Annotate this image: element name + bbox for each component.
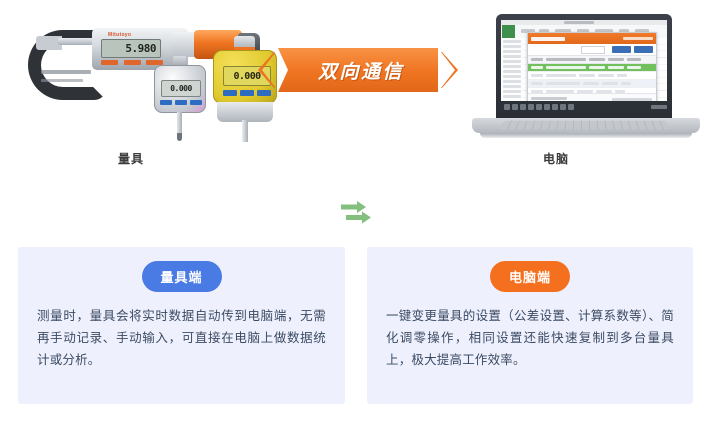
pc-caption: 电脑 [543, 150, 569, 167]
table-row [528, 80, 656, 88]
badge-gauge-side: 量具端 [141, 261, 221, 292]
bidirectional-arrows-icon [336, 196, 376, 226]
table-row [528, 64, 656, 72]
micrometer-brand-label: Mitutoyo [108, 32, 131, 38]
chevron-left-icon [258, 52, 275, 88]
app-toolbar [528, 44, 656, 56]
laptop-lid [496, 14, 672, 120]
laptop-illustration [472, 14, 700, 144]
app-table-header [528, 56, 656, 64]
banner-label: 双向通信 [312, 57, 404, 84]
laptop-keyboard [500, 121, 670, 130]
card-gauge-side: 量具端 测量时，量具会将实时数据自动传到电脑端，无需再手动记录、手动输入，可直接… [18, 247, 345, 404]
gauge-caption: 量具 [118, 150, 144, 167]
taskbar [501, 101, 667, 112]
hero-section: Mitutoyo 5.980 0.000 0 [0, 0, 712, 180]
badge-pc-side: 电脑端 [490, 261, 570, 292]
banner-body: 双向通信 [278, 48, 438, 92]
spreadsheet-file-menu [502, 25, 515, 38]
dial-indicator-small: 0.000 [152, 56, 208, 142]
card-pc-side-body: 一键变更量具的设置（公差设置、计算系数等）、简化调零操作，相同设置还能快速复制到… [386, 305, 674, 371]
app-titlebar [528, 33, 656, 44]
table-row [528, 72, 656, 80]
chevron-right-icon [441, 52, 458, 88]
spreadsheet-row-headers [501, 38, 524, 101]
measuring-instruments: Mitutoyo 5.980 0.000 0 [22, 8, 262, 143]
laptop-base-front [480, 133, 692, 138]
measurement-app-window [527, 32, 657, 112]
dial-large-reading: 0.000 [233, 71, 260, 82]
card-gauge-side-body: 测量时，量具会将实时数据自动传到电脑端，无需再手动记录、手动输入，可直接在电脑上… [37, 305, 326, 371]
laptop-screen [501, 20, 667, 112]
bidirectional-banner: 双向通信 [258, 48, 458, 92]
dial-small-reading: 0.000 [170, 84, 192, 93]
micrometer-reading: 5.980 [125, 42, 156, 55]
info-cards: 量具端 测量时，量具会将实时数据自动传到电脑端，无需再手动记录、手动输入，可直接… [0, 247, 712, 405]
card-pc-side: 电脑端 一键变更量具的设置（公差设置、计算系数等）、简化调零操作，相同设置还能快… [367, 247, 693, 404]
